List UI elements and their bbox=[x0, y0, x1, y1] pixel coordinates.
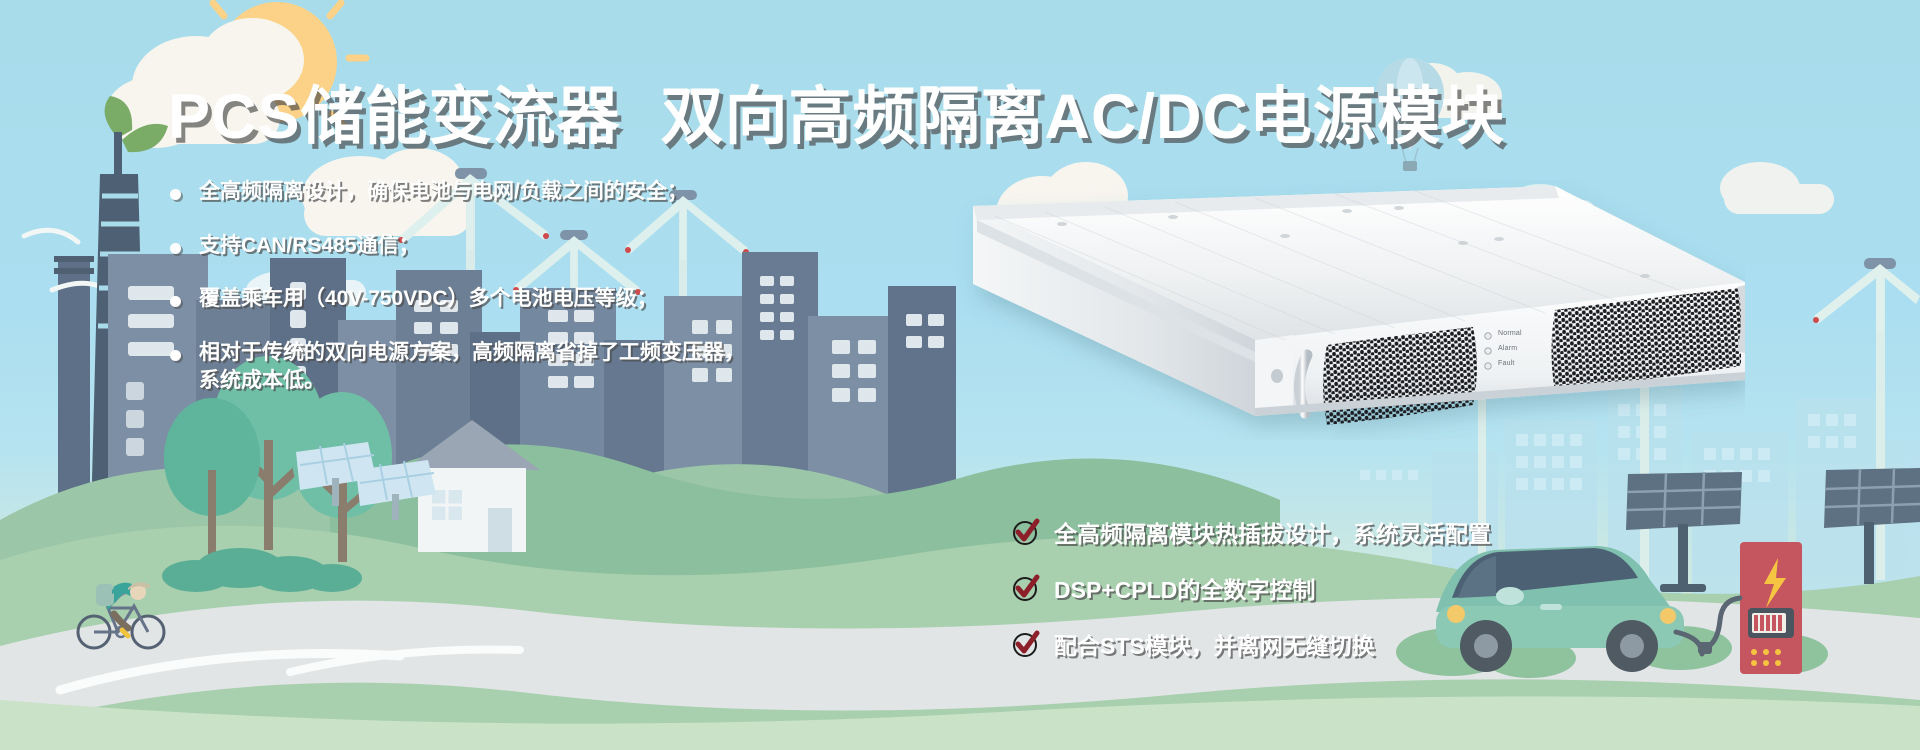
page-title: PCS储能变流器双向高频隔离AC/DC电源模块 bbox=[168, 66, 1505, 157]
highlight-list: 全高频隔离模块热插拔设计，系统灵活配置 DSP+CPLD的全数字控制 配合STS… bbox=[1012, 515, 1491, 683]
check-circle-icon bbox=[1012, 630, 1040, 658]
led-label-alarm: Alarm bbox=[1498, 345, 1517, 352]
highlight-text: 全高频隔离模块热插拔设计，系统灵活配置 bbox=[1054, 515, 1491, 549]
highlight-text: DSP+CPLD的全数字控制 bbox=[1054, 571, 1315, 605]
bullet-dot-icon bbox=[170, 350, 181, 361]
solar-panel-icon bbox=[1824, 468, 1920, 584]
feature-text: 相对于传统的双向电源方案，高频隔离省掉了工频变压器， 系统成本低。 bbox=[199, 339, 745, 394]
check-circle-icon bbox=[1012, 518, 1040, 546]
led-label-fault: Fault bbox=[1498, 360, 1515, 367]
bush-icon bbox=[162, 548, 362, 592]
feature-text: 覆盖乘车用（40V-750VDC）多个电池电压等级； bbox=[199, 285, 658, 313]
feature-text: 支持CAN/RS485通信； bbox=[199, 232, 420, 260]
device-illustration bbox=[955, 180, 1745, 440]
bullet-dot-icon bbox=[170, 189, 181, 200]
pcs-module-device: Normal Alarm Fault bbox=[955, 180, 1745, 440]
list-item: 配合STS模块，并离网无缝切换 bbox=[1012, 627, 1491, 661]
list-item: DSP+CPLD的全数字控制 bbox=[1012, 571, 1491, 605]
led-indicator-group bbox=[1485, 333, 1491, 369]
feature-list: 全高频隔离设计，确保电池与电网/负载之间的安全； 支持CAN/RS485通信； … bbox=[170, 178, 745, 421]
list-item: 相对于传统的双向电源方案，高频隔离省掉了工频变压器， 系统成本低。 bbox=[170, 339, 745, 394]
list-item: 全高频隔离模块热插拔设计，系统灵活配置 bbox=[1012, 515, 1491, 549]
house-icon bbox=[404, 420, 540, 552]
promo-banner: Normal Alarm Fault PCS储能变流器双向高频隔离AC/DC电源… bbox=[0, 0, 1920, 750]
check-circle-icon bbox=[1012, 574, 1040, 602]
list-item: 全高频隔离设计，确保电池与电网/负载之间的安全； bbox=[170, 178, 745, 206]
title-main: PCS储能变流器 bbox=[168, 82, 621, 152]
solar-panel-icon bbox=[356, 460, 436, 520]
highlight-text: 配合STS模块，并离网无缝切换 bbox=[1054, 627, 1375, 661]
solar-panel-icon bbox=[296, 442, 376, 506]
bullet-dot-icon bbox=[170, 296, 181, 307]
list-item: 覆盖乘车用（40V-750VDC）多个电池电压等级； bbox=[170, 285, 745, 313]
tree-icon bbox=[164, 398, 260, 560]
title-sub: 双向高频隔离AC/DC电源模块 bbox=[661, 82, 1506, 152]
ev-charger-icon bbox=[1698, 542, 1802, 674]
led-label-normal: Normal bbox=[1498, 330, 1522, 337]
factory-chimney-icon bbox=[24, 96, 168, 556]
list-item: 支持CAN/RS485通信； bbox=[170, 232, 745, 260]
feature-text: 全高频隔离设计，确保电池与电网/负载之间的安全； bbox=[199, 178, 688, 206]
solar-panel-icon bbox=[1626, 472, 1742, 592]
bullet-dot-icon bbox=[170, 243, 181, 254]
